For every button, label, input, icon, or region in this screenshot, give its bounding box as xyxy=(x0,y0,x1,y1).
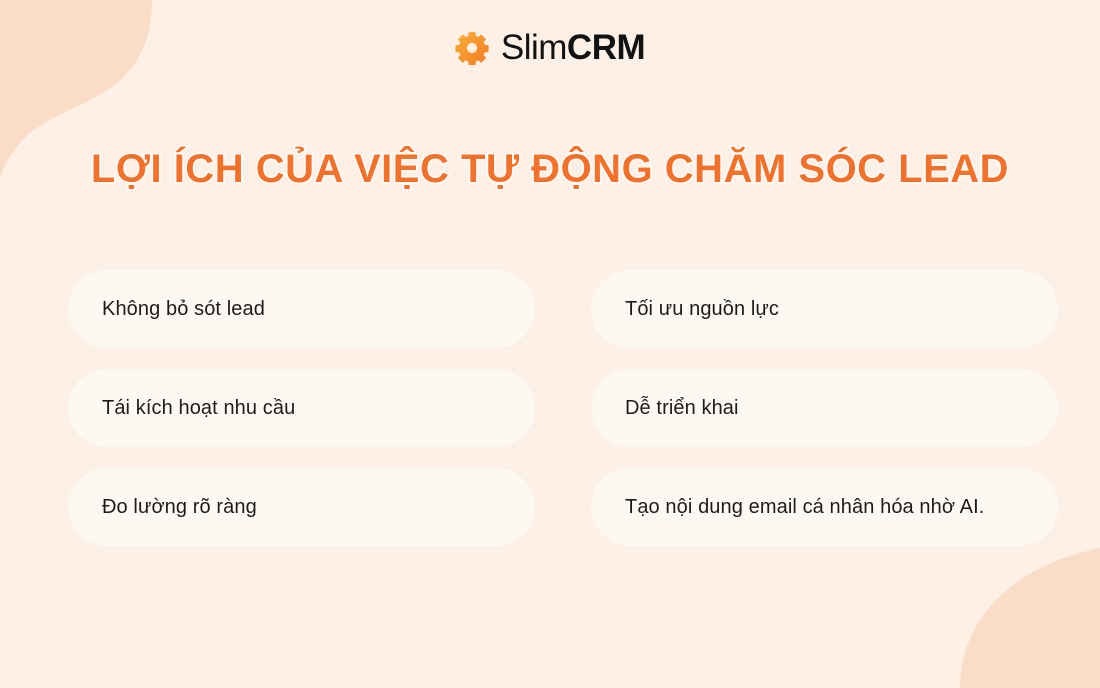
brand-logo: SlimCRM xyxy=(0,30,1100,65)
benefit-card: Đo lường rõ ràng xyxy=(68,468,535,546)
benefit-label: Dễ triển khai xyxy=(625,396,739,421)
gear-icon xyxy=(455,31,489,65)
bottom-right-blob-decoration xyxy=(920,528,1100,688)
benefit-label: Tối ưu nguồn lực xyxy=(625,297,779,322)
benefit-card: Dễ triển khai xyxy=(591,369,1058,447)
logo-text-slim: Slim xyxy=(501,28,567,67)
benefit-card: Tối ưu nguồn lực xyxy=(591,270,1058,348)
logo-wordmark: SlimCRM xyxy=(501,30,645,65)
logo-text-crm: CRM xyxy=(567,28,645,67)
benefit-label: Đo lường rõ ràng xyxy=(102,495,257,520)
benefits-grid: Không bỏ sót lead Tối ưu nguồn lực Tái k… xyxy=(68,270,1058,546)
page-title: LỢI ÍCH CỦA VIỆC TỰ ĐỘNG CHĂM SÓC LEAD xyxy=(0,147,1100,191)
benefit-card: Tái kích hoạt nhu cầu xyxy=(68,369,535,447)
slide-canvas: SlimCRM LỢI ÍCH CỦA VIỆC TỰ ĐỘNG CHĂM SÓ… xyxy=(0,0,1100,688)
benefit-label: Tái kích hoạt nhu cầu xyxy=(102,396,295,421)
benefit-card: Không bỏ sót lead xyxy=(68,270,535,348)
benefit-card: Tạo nội dung email cá nhân hóa nhờ AI. xyxy=(591,468,1058,546)
benefit-label: Tạo nội dung email cá nhân hóa nhờ AI. xyxy=(625,495,984,520)
benefit-label: Không bỏ sót lead xyxy=(102,297,265,322)
